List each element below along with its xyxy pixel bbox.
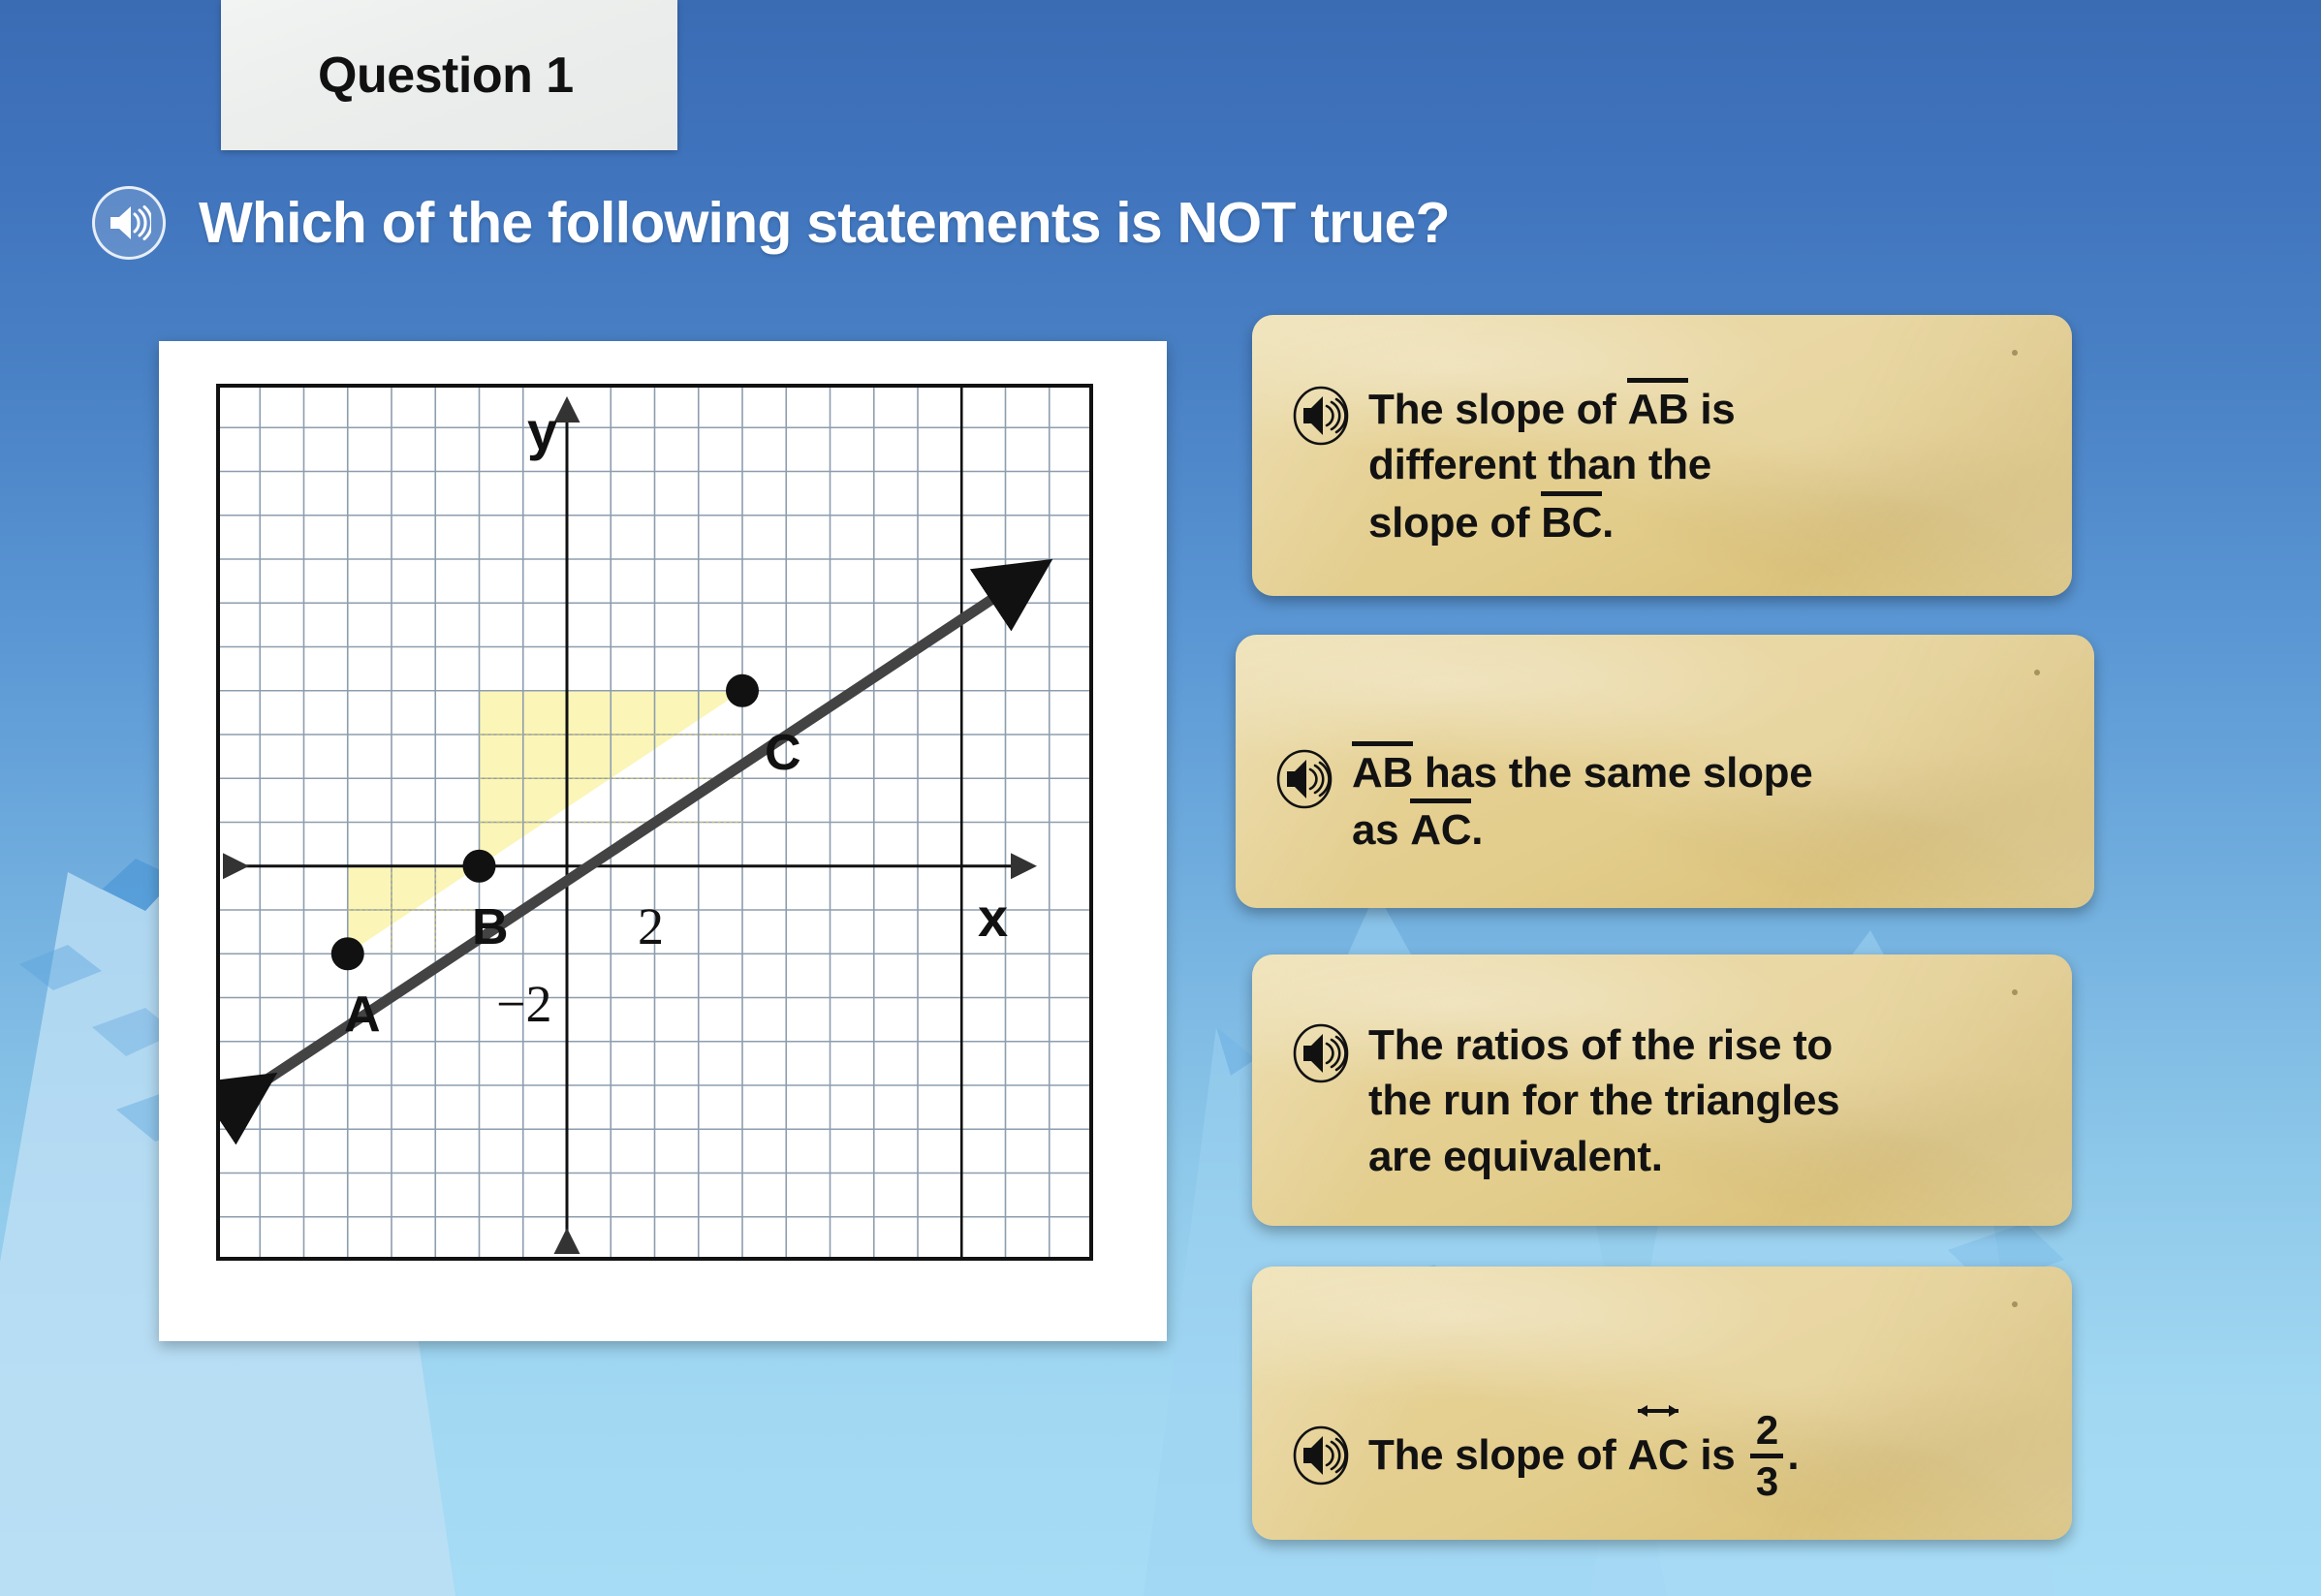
fraction-bar — [1750, 1454, 1783, 1458]
answer-text-a: The slope of AB isdifferent than theslop… — [1368, 380, 1735, 550]
answer-choice-b[interactable]: AB has the same slopeas AC. — [1236, 635, 2094, 908]
paper-speck — [2012, 989, 2018, 995]
fraction-denominator: 3 — [1756, 1461, 1778, 1502]
speaker-audio-icon[interactable] — [92, 186, 166, 260]
overline-bc: BC — [1541, 493, 1602, 550]
paper-speck — [2012, 350, 2018, 356]
speaker-audio-icon[interactable] — [1274, 743, 1334, 815]
answer-text-line: different than the — [1368, 437, 1735, 492]
question-tab-label: Question 1 — [318, 47, 574, 105]
y-axis-label: y — [527, 400, 557, 461]
point-label-b: B — [472, 899, 509, 955]
x-tick-2: 2 — [638, 897, 664, 955]
speaker-audio-icon[interactable] — [1291, 1017, 1351, 1089]
question-tab: Question 1 — [221, 0, 677, 150]
coordinate-graph-card: A B C y x 2 −2 — [159, 341, 1167, 1341]
answer-choice-d[interactable]: The slope of AC is 23. — [1252, 1267, 2072, 1540]
answer-text-d: The slope of AC is 23. — [1368, 1410, 1799, 1502]
answer-text-line: The ratios of the rise to — [1368, 1017, 1839, 1073]
answer-choice-c[interactable]: The ratios of the rise tothe run for the… — [1252, 954, 2072, 1226]
overline-ab: AB — [1352, 743, 1413, 800]
speaker-audio-icon[interactable] — [1291, 1420, 1351, 1491]
answer-text-c: The ratios of the rise tothe run for the… — [1368, 1017, 1839, 1184]
paper-speck — [2012, 1301, 2018, 1307]
answer-text-line: are equivalent. — [1368, 1129, 1839, 1184]
question-prompt-row: Which of the following statements is NOT… — [92, 186, 1450, 260]
point-c — [726, 674, 759, 707]
x-axis-label: x — [978, 887, 1008, 948]
point-label-a: A — [344, 986, 381, 1043]
doublearrow-ac: AC — [1627, 1427, 1688, 1483]
answer-choice-a[interactable]: The slope of AB isdifferent than theslop… — [1252, 315, 2072, 596]
point-label-c: C — [765, 725, 801, 781]
point-a — [331, 937, 364, 970]
answer-text-line: as AC. — [1352, 800, 1812, 858]
point-b — [463, 850, 496, 883]
answer-text-line: The slope of AB is — [1368, 380, 1735, 437]
speaker-audio-icon[interactable] — [1291, 380, 1351, 452]
paper-speck — [2034, 670, 2040, 675]
question-prompt-text: Which of the following statements is NOT… — [199, 190, 1450, 256]
y-tick-neg2: −2 — [496, 975, 551, 1033]
answer-text-b: AB has the same slopeas AC. — [1352, 743, 1812, 858]
answer-text-line: AB has the same slope — [1352, 743, 1812, 800]
overline-ac: AC — [1410, 800, 1471, 858]
coordinate-graph: A B C y x 2 −2 — [216, 384, 1093, 1261]
overline-ab: AB — [1627, 380, 1688, 437]
answer-text-line: the run for the triangles — [1368, 1073, 1839, 1128]
fraction-numerator: 2 — [1756, 1410, 1778, 1451]
fraction-two-thirds: 23 — [1750, 1410, 1783, 1502]
answer-text-line: slope of BC. — [1368, 493, 1735, 550]
graph-svg: A B C y x 2 −2 — [216, 384, 1093, 1261]
